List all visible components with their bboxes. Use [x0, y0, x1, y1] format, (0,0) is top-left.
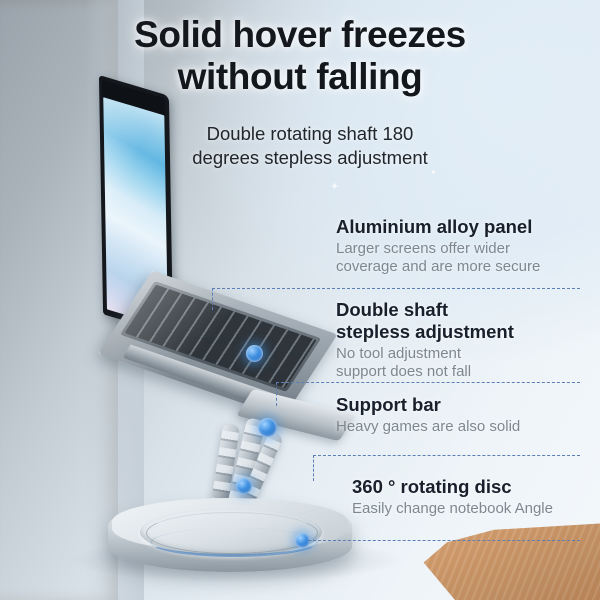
leader-line-support-v [313, 455, 314, 481]
subtitle-line-2: degrees stepless adjustment [192, 147, 428, 168]
callout-description: Easily change notebook Angle [352, 500, 553, 518]
callout-title: Double shaft stepless adjustment [336, 299, 514, 343]
leader-line-shaft-h [276, 382, 580, 383]
callout-desc-line-1: Easily change notebook Angle [352, 500, 553, 517]
callout-desc-line-2: support does not fall [336, 363, 471, 380]
callout-desc-line-1: Heavy games are also solid [336, 418, 520, 435]
callout-aluminium-alloy-panel: Aluminium alloy panel Larger screens off… [336, 216, 540, 276]
product-infographic: Solid hover freezes without falling Doub… [0, 0, 600, 600]
leader-line-panel-h [212, 288, 580, 289]
callout-desc-line-1: No tool adjustment [336, 345, 461, 362]
callout-title: Support bar [336, 394, 520, 416]
callout-title-line-1: Aluminium alloy panel [336, 216, 532, 237]
leader-line-shaft-v [276, 382, 277, 406]
marker-dot-panel [246, 345, 263, 362]
headline-line-1: Solid hover freezes [134, 14, 466, 55]
marker-dot-support-bar [236, 478, 252, 494]
callout-desc-line-2: coverage and are more secure [336, 258, 540, 275]
callout-title: 360 ° rotating disc [352, 476, 553, 498]
callout-desc-line-1: Larger screens offer wider [336, 240, 510, 257]
disc-rotation-arc [150, 528, 318, 557]
marker-dot-shaft [258, 418, 277, 437]
leader-line-support-h [313, 455, 580, 456]
callout-description: No tool adjustment support does not fall [336, 345, 514, 382]
leader-line-disc-h [308, 540, 580, 541]
subtitle: Double rotating shaft 180 degrees steple… [130, 122, 490, 171]
sparkle-icon: ✦ [430, 168, 437, 177]
callout-description: Heavy games are also solid [336, 418, 520, 436]
sparkle-icon: ✦ [330, 180, 339, 193]
callout-title-line-2: stepless adjustment [336, 321, 514, 342]
callout-360-rotating-disc: 360 ° rotating disc Easily change notebo… [352, 476, 553, 518]
callout-title-line-1: 360 ° rotating disc [352, 476, 512, 497]
callout-title-line-1: Support bar [336, 394, 441, 415]
callout-double-shaft-stepless-adjustment: Double shaft stepless adjustment No tool… [336, 299, 514, 381]
leader-line-panel-v [212, 288, 213, 310]
callout-description: Larger screens offer wider coverage and … [336, 240, 540, 277]
callout-title-line-1: Double shaft [336, 299, 448, 320]
subtitle-line-1: Double rotating shaft 180 [207, 123, 414, 144]
headline-line-2: without falling [0, 56, 600, 98]
callout-title: Aluminium alloy panel [336, 216, 540, 238]
page-title: Solid hover freezes without falling [0, 14, 600, 98]
callout-support-bar: Support bar Heavy games are also solid [336, 394, 520, 436]
